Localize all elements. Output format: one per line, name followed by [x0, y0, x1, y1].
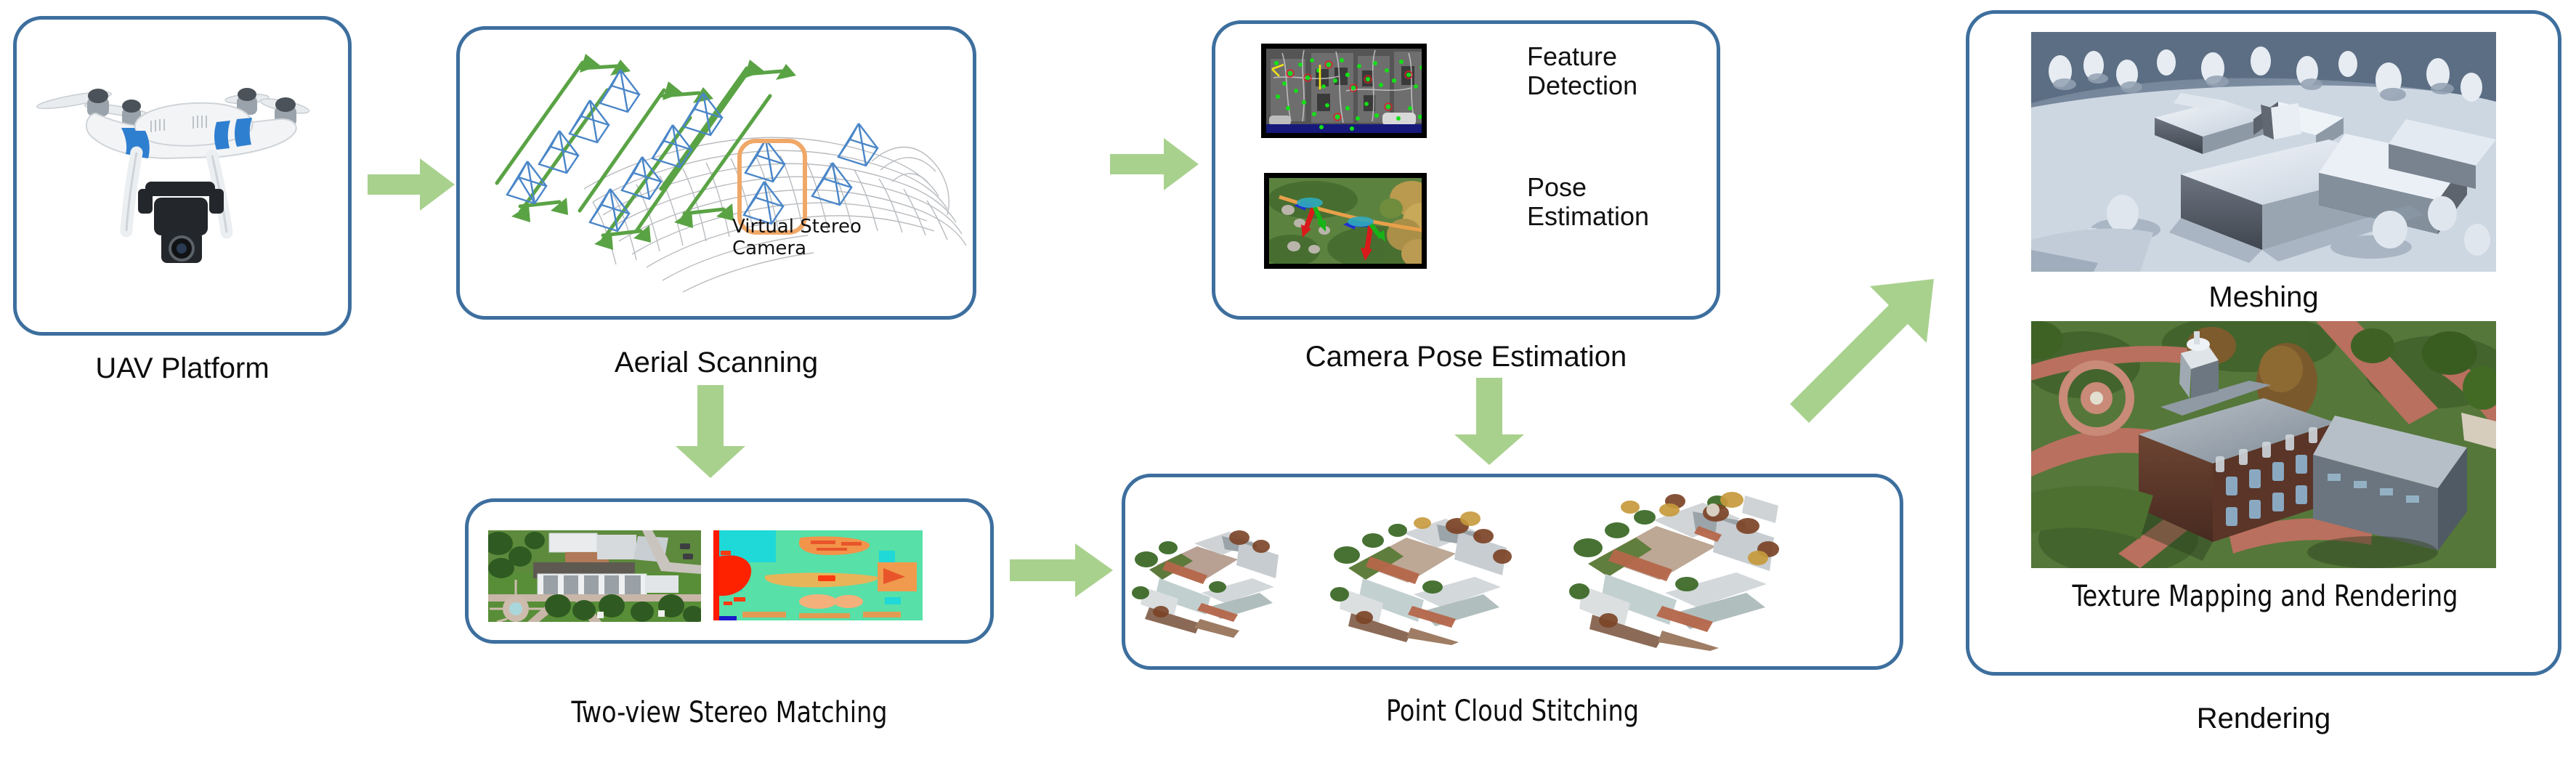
arrow-stereo-to-pointcloud — [1010, 543, 1113, 597]
label-pose-estimation-line1: Pose — [1527, 173, 1730, 202]
thumb-point-cloud-1[interactable] — [1130, 517, 1292, 641]
pipeline-diagram: UAV Platform — [0, 0, 2576, 757]
thumb-texture-mapping[interactable] — [2031, 321, 2496, 568]
thumb-meshing[interactable] — [2031, 32, 2496, 272]
caption-camera-pose-estimation: Camera Pose Estimation — [1212, 341, 1720, 372]
aerial-scan-illustration — [465, 33, 968, 309]
arrow-pointcloud-to-rendering — [1780, 247, 1969, 436]
arrow-uav-to-aerial — [368, 158, 455, 211]
caption-point-cloud-stitching: Point Cloud Stitching — [1149, 696, 1876, 726]
thumb-point-cloud-2[interactable] — [1328, 501, 1523, 645]
annotation-line-1: Virtual Stereo — [732, 216, 907, 238]
caption-aerial-scanning: Aerial Scanning — [456, 347, 976, 378]
label-feature-detection-line1: Feature — [1527, 42, 1723, 71]
arrow-aerial-to-pose — [1110, 138, 1199, 190]
drone-illustration — [29, 44, 334, 320]
caption-meshing: Meshing — [2031, 282, 2496, 312]
thumb-disparity-depth-map[interactable] — [713, 530, 923, 620]
caption-texture-mapping-rendering: Texture Mapping and Rendering — [1982, 581, 2547, 612]
caption-uav-platform: UAV Platform — [13, 353, 352, 384]
label-pose-estimation: Pose Estimation — [1527, 173, 1730, 232]
thumb-aerial-rgb-photo[interactable] — [488, 530, 701, 622]
annotation-line-2: Camera — [732, 238, 907, 260]
arrow-pose-to-pointcloud — [1454, 378, 1524, 465]
thumb-point-cloud-3[interactable] — [1566, 485, 1791, 651]
caption-rendering: Rendering — [1966, 703, 2561, 734]
caption-two-view-stereo: Two-view Stereo Matching — [470, 697, 989, 728]
thumb-pose-estimation[interactable] — [1264, 173, 1427, 269]
annotation-virtual-stereo-camera: Virtual Stereo Camera — [732, 216, 907, 259]
arrow-aerial-to-stereo — [676, 385, 745, 478]
thumb-feature-detection[interactable] — [1261, 44, 1427, 138]
label-feature-detection-line2: Detection — [1527, 71, 1723, 100]
label-pose-estimation-line2: Estimation — [1527, 202, 1730, 231]
label-feature-detection: Feature Detection — [1527, 42, 1723, 101]
